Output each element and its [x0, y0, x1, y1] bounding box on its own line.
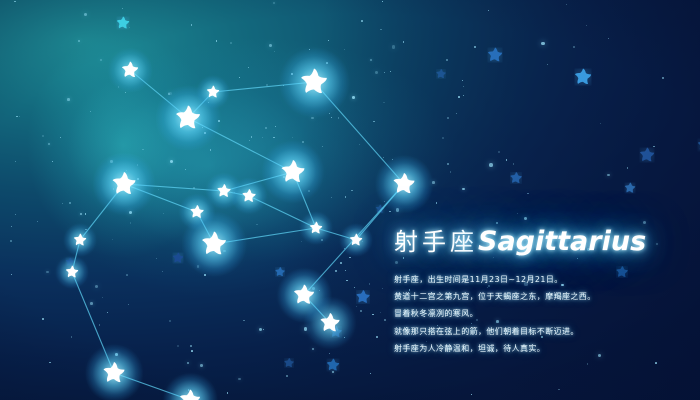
description-line: 黄道十二宫之第九宫，位于天蝎座之东，摩羯座之西。 [394, 288, 696, 305]
description-line: 射手座，出生时间是11月23日~12月21日。 [394, 271, 696, 288]
constellation-star [112, 172, 136, 196]
constellation-star [180, 390, 201, 400]
text-block: 射手座Sagittarius 射手座，出生时间是11月23日~12月21日。黄道… [394, 222, 696, 357]
title-english: Sagittarius [478, 226, 646, 257]
constellation-star [202, 232, 227, 257]
constellation-star [310, 222, 323, 235]
description: 射手座，出生时间是11月23日~12月21日。黄道十二宫之第九宫，位于天蝎座之东… [394, 271, 696, 357]
constellation-star [66, 266, 79, 279]
constellation-star [393, 173, 415, 195]
page-title: 射手座Sagittarius [394, 222, 696, 257]
constellation-star [74, 234, 87, 247]
constellation-star [301, 69, 328, 96]
constellation-star [350, 234, 363, 247]
constellation-star [176, 106, 201, 131]
constellation-star [281, 160, 305, 184]
zodiac-poster: 射手座Sagittarius 射手座，出生时间是11月23日~12月21日。黄道… [0, 0, 700, 400]
constellation-star [320, 313, 340, 333]
constellation-star [103, 362, 125, 384]
constellation-star [122, 62, 139, 79]
description-line: 就像那只搭在弦上的箭，他们朝着目标不断迈进。 [394, 323, 696, 340]
description-line: 射手座为人冷静温和，坦诚，待人真实。 [394, 340, 696, 357]
constellation-star [207, 86, 220, 99]
title-chinese: 射手座 [394, 228, 478, 256]
constellation-star [242, 189, 256, 203]
description-line: 冒着秋冬凛冽的寒风。 [394, 305, 696, 322]
